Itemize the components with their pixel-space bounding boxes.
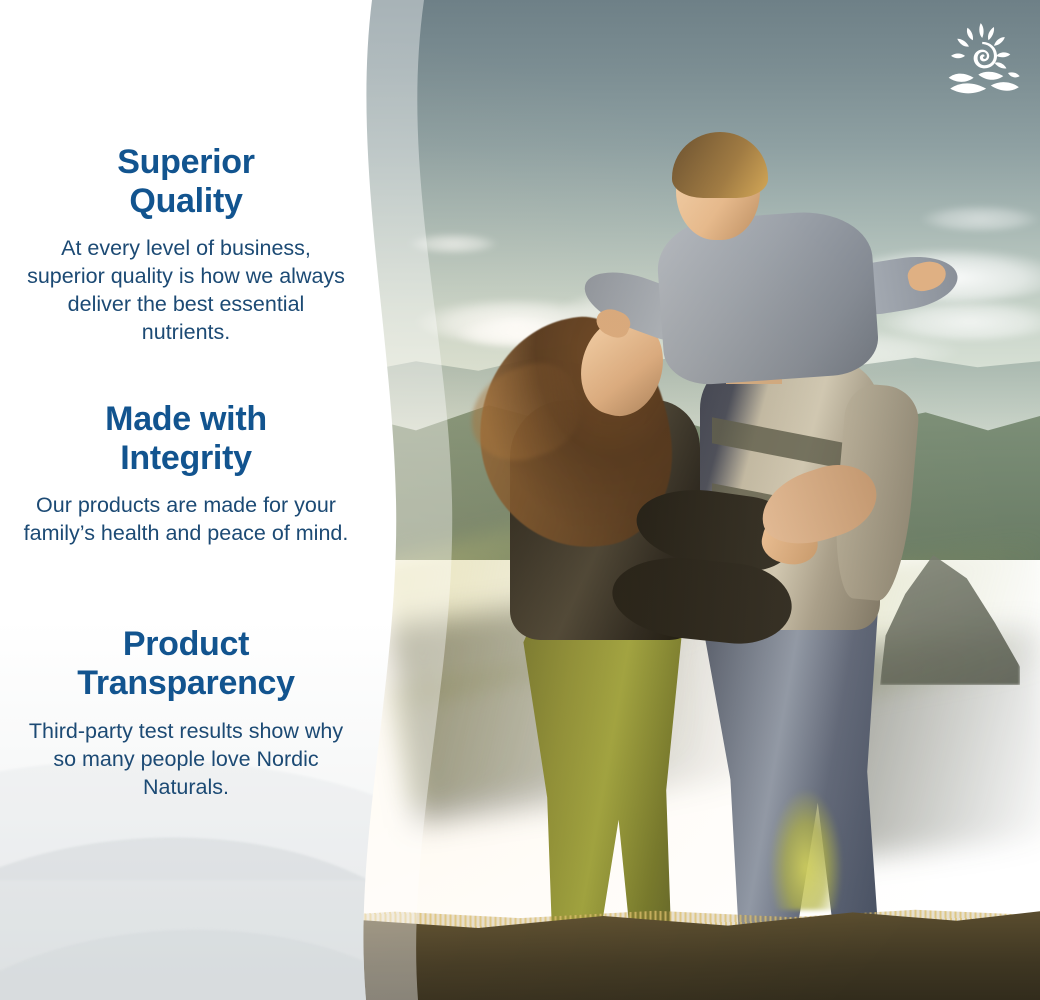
value-body: At every level of business, superior qua… (22, 235, 350, 347)
value-heading: Superior Quality (22, 143, 350, 222)
brand-values-poster: Superior Quality At every level of busin… (0, 0, 1040, 1000)
value-block-superior-quality: Superior Quality At every level of busin… (22, 143, 350, 347)
value-block-made-with-integrity: Made with Integrity Our products are mad… (22, 400, 350, 548)
heading-line: Product (123, 625, 249, 663)
heading-line: Transparency (77, 664, 295, 702)
sun-waves-logo-icon (944, 20, 1022, 98)
value-block-product-transparency: Product Transparency Third-party test re… (22, 625, 350, 802)
value-body: Our products are made for your family’s … (22, 492, 350, 548)
heading-line: Superior (117, 143, 254, 181)
value-heading: Made with Integrity (22, 400, 350, 479)
value-heading: Product Transparency (22, 625, 350, 704)
value-body: Third-party test results show why so man… (22, 718, 350, 802)
cloud (408, 233, 498, 253)
child-sweatshirt (655, 208, 881, 388)
heading-line: Quality (129, 182, 242, 220)
cloud (920, 205, 1040, 231)
heading-line: Integrity (120, 439, 251, 477)
values-list: Superior Quality At every level of busin… (0, 0, 372, 1000)
foreground-shrub (770, 790, 842, 910)
heading-line: Made with (105, 400, 267, 438)
